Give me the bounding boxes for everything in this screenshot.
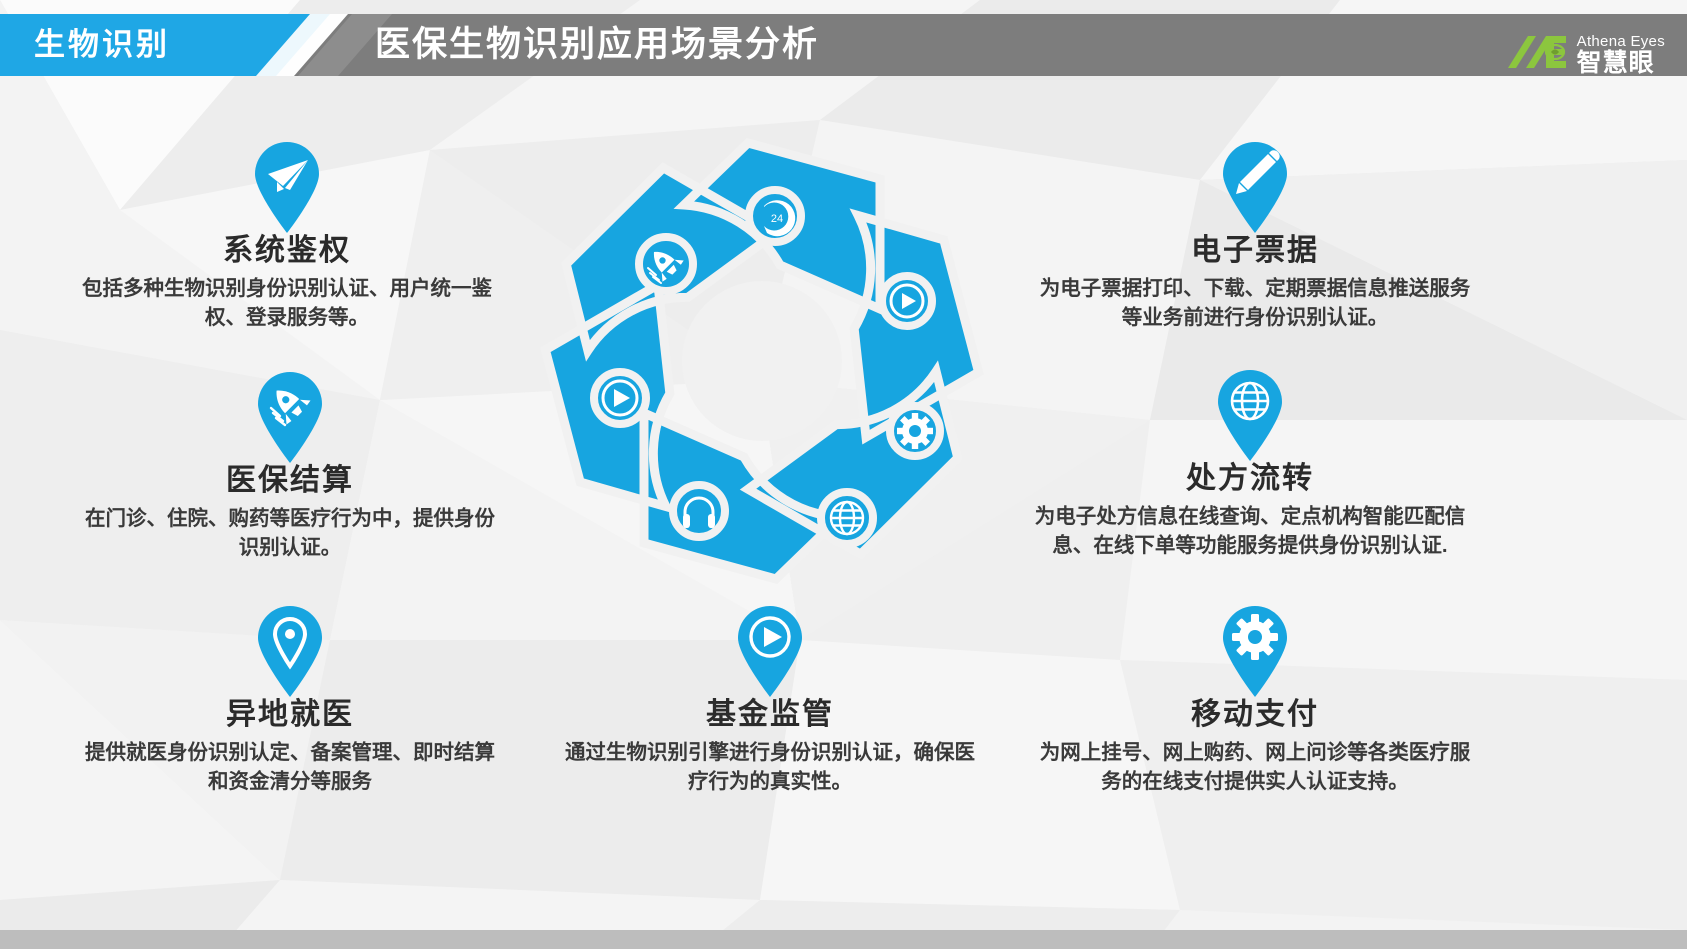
feature-desc: 在门诊、住院、购药等医疗行为中，提供身份识别认证。 [75,504,505,562]
feature-item-pay: 移动支付 为网上挂号、网上购药、网上问诊等各类医疗服务的在线支付提供实人认证支持… [1035,604,1475,796]
feature-desc: 提供就医身份识别认定、备案管理、即时结算和资金清分等服务 [75,738,505,796]
feature-desc: 为网上挂号、网上购药、网上问诊等各类医疗服务的在线支付提供实人认证支持。 [1035,738,1475,796]
feature-desc: 包括多种生物识别身份识别认证、用户统一鉴权、登录服务等。 [72,274,502,332]
play-circle-icon [594,372,646,424]
feature-desc: 通过生物识别引擎进行身份识别认证，确保医疗行为的真实性。 [555,738,985,796]
gear-icon [890,406,940,456]
feature-item-remote: 异地就医 提供就医身份识别认定、备案管理、即时结算和资金清分等服务 [75,604,505,796]
feature-item-settle: 医保结算 在门诊、住院、购药等医疗行为中，提供身份识别认证。 [75,370,505,562]
globe-icon [1213,368,1287,462]
map-pin-icon [253,604,327,698]
pencil-icon [1218,140,1292,234]
ae-monogram-icon [1506,35,1568,75]
logo-name-cn: 智慧眼 [1577,51,1665,76]
feature-title: 系统鉴权 [72,232,502,270]
logo-name-en: Athena Eyes [1577,34,1665,49]
hexagonal-pinwheel-diagram: 24 [527,126,997,596]
svg-text:24: 24 [771,213,783,225]
paper-plane-icon [250,140,324,234]
page-title: 医保生物识别应用场景分析 [375,22,819,68]
headphones-icon [673,485,725,537]
page-header: 生物识别 医保生物识别应用场景分析 Athena Eyes 智慧眼 [0,14,1687,76]
feature-title: 异地就医 [75,696,505,734]
globe-icon [821,492,873,544]
rocket-icon [639,237,693,291]
feature-item-rx: 处方流转 为电子处方信息在线查询、定点机构智能匹配信息、在线下单等功能服务提供身… [1030,368,1470,560]
feature-item-fund: 基金监管 通过生物识别引擎进行身份识别认证，确保医疗行为的真实性。 [555,604,985,796]
feature-desc: 为电子票据打印、下载、定期票据信息推送服务等业务前进行身份识别认证。 [1035,274,1475,332]
phone-24h-support-icon: 24 [749,190,801,242]
rocket-icon [253,370,327,464]
header-tag: 生物识别 [34,28,249,62]
feature-title: 医保结算 [75,462,505,500]
play-circle-icon [882,276,932,326]
feature-desc: 为电子处方信息在线查询、定点机构智能匹配信息、在线下单等功能服务提供身份识别认证… [1030,502,1470,560]
feature-title: 基金监管 [555,696,985,734]
feature-item-sysauth: 系统鉴权 包括多种生物识别身份识别认证、用户统一鉴权、登录服务等。 [72,140,502,332]
feature-title: 电子票据 [1035,232,1475,270]
feature-title: 移动支付 [1035,696,1475,734]
feature-item-einvoice: 电子票据 为电子票据打印、下载、定期票据信息推送服务等业务前进行身份识别认证。 [1035,140,1475,332]
brand-logo: Athena Eyes 智慧眼 [1506,32,1665,78]
play-circle-icon [733,604,807,698]
gear-icon [1218,604,1292,698]
feature-title: 处方流转 [1030,460,1470,498]
